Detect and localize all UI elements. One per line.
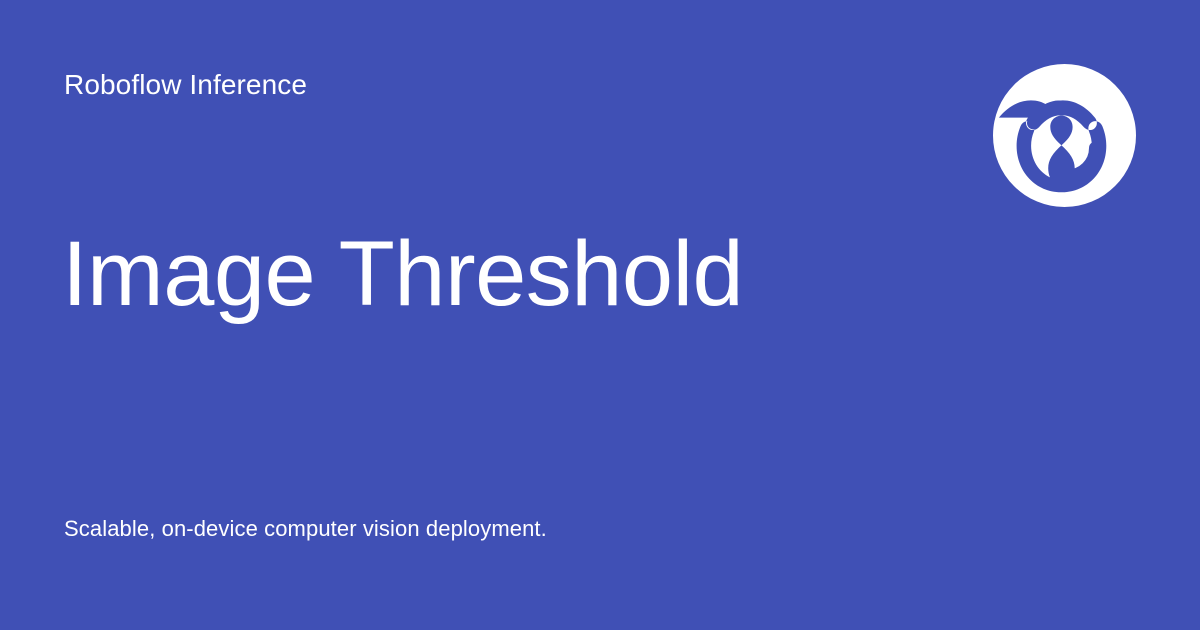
og-card: Roboflow Inference Image Threshold Scala…	[0, 0, 1200, 630]
roboflow-logo	[993, 64, 1136, 207]
page-title: Image Threshold	[62, 222, 743, 326]
eyebrow-product-name: Roboflow Inference	[64, 68, 307, 102]
tagline: Scalable, on-device computer vision depl…	[64, 514, 547, 544]
